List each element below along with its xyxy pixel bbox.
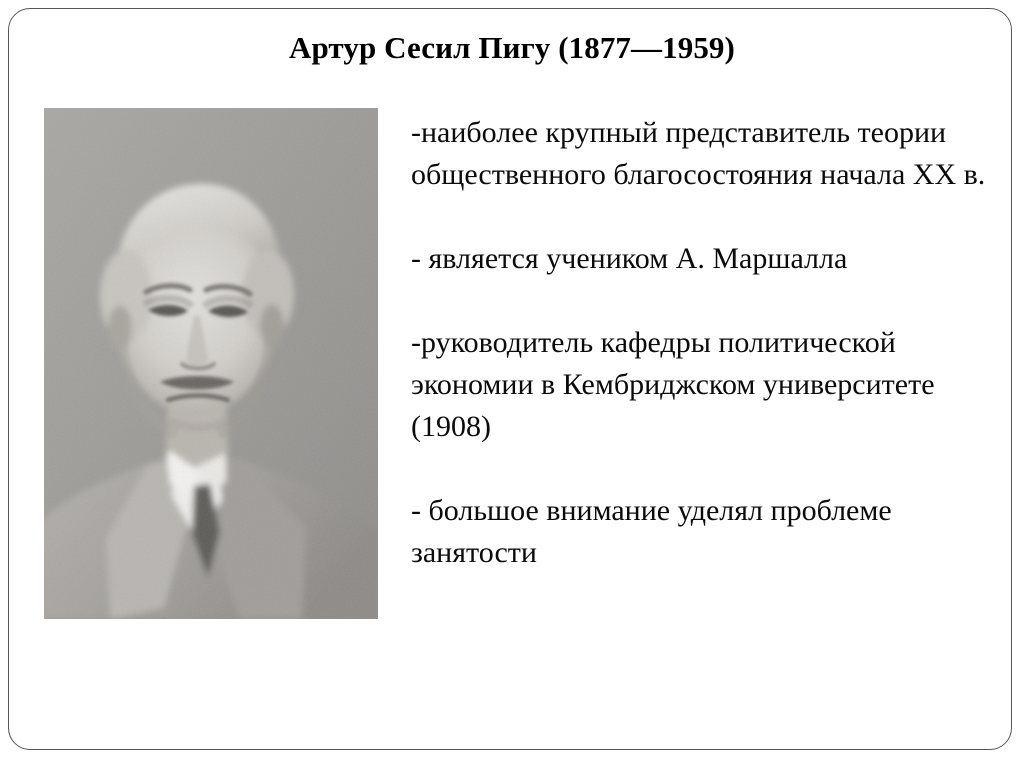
portrait-photo <box>44 108 378 619</box>
slide: Артур Сесил Пигу (1877—1959) <box>0 0 1024 767</box>
bullet-paragraph-2: - является учеником А. Маршалла <box>411 238 1011 280</box>
bullet-paragraph-3: -руководитель кафедры политической эконо… <box>411 322 1011 448</box>
page-title: Артур Сесил Пигу (1877—1959) <box>60 28 964 68</box>
bullet-paragraph-4: - большое внимание уделял проблеме занят… <box>411 490 1011 574</box>
portrait-photo-image <box>44 108 378 619</box>
body-text-column: -наиболее крупный представитель теории о… <box>411 112 1011 574</box>
bullet-paragraph-1: -наиболее крупный представитель теории о… <box>411 112 1011 196</box>
